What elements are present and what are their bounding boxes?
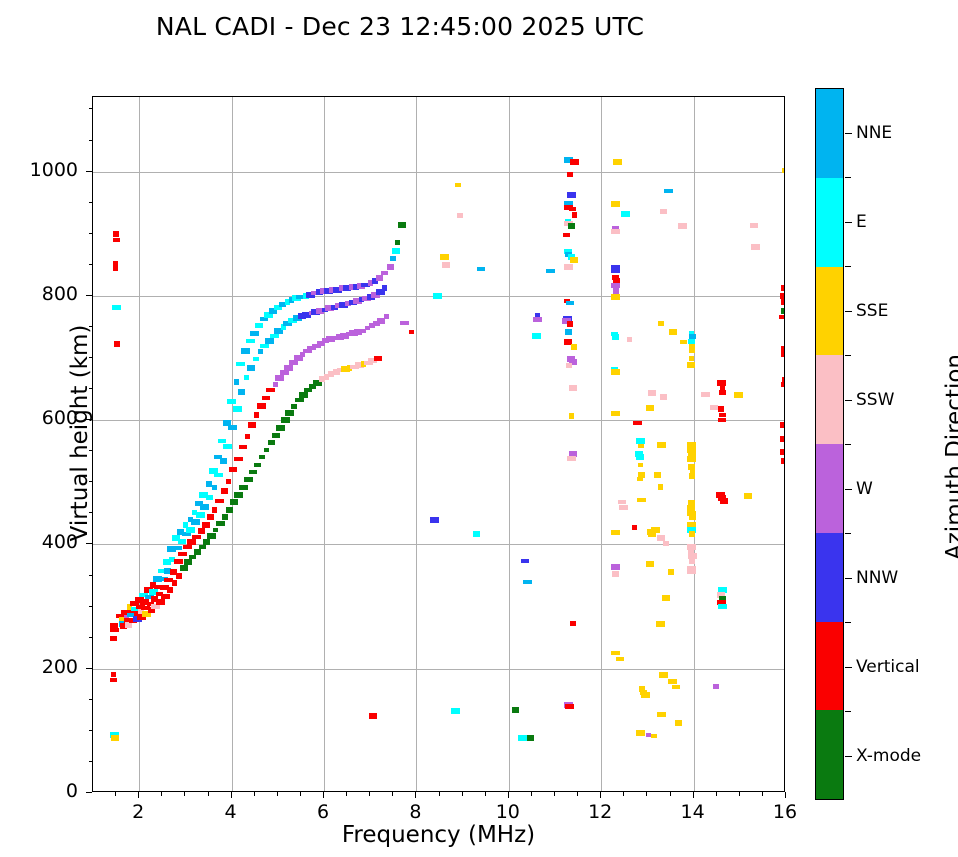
- x-tick-minor: [716, 792, 717, 796]
- echo-point: [672, 685, 680, 689]
- echo-point: [173, 546, 182, 550]
- x-tick-minor: [439, 792, 440, 796]
- echo-point: [257, 403, 266, 409]
- echo-point: [196, 512, 205, 518]
- echo-point: [156, 599, 165, 605]
- echo-point: [660, 209, 667, 214]
- y-tick-minor: [89, 699, 93, 700]
- echo-point: [611, 269, 620, 273]
- echo-point: [567, 192, 576, 198]
- echo-point: [656, 621, 665, 627]
- echo-point: [518, 735, 527, 741]
- echo-point: [285, 410, 294, 416]
- echo-point: [571, 344, 577, 350]
- echo-point: [246, 339, 255, 343]
- x-tick-major: [323, 792, 324, 798]
- colorbar-tick: [845, 311, 852, 312]
- echo-point: [781, 285, 784, 291]
- echo-point: [451, 708, 460, 714]
- echo-point: [184, 559, 192, 565]
- echo-point: [523, 580, 532, 584]
- echo-point: [659, 672, 668, 678]
- echo-point: [680, 340, 687, 344]
- echo-point: [750, 223, 758, 228]
- echo-point: [689, 516, 696, 520]
- echo-point: [613, 288, 619, 294]
- echo-point: [636, 454, 644, 460]
- echo-point: [646, 733, 651, 737]
- echo-point: [382, 285, 387, 291]
- colorbar-label-sse: SSE: [856, 301, 888, 321]
- echo-point: [521, 559, 529, 563]
- echo-point: [611, 229, 620, 234]
- echo-point: [646, 561, 654, 567]
- echo-point: [186, 527, 195, 533]
- x-tick-label: 14: [663, 801, 723, 823]
- x-tick-major: [231, 792, 232, 798]
- echo-point: [167, 587, 173, 593]
- colorbar-tick: [845, 578, 852, 579]
- echo-point: [565, 329, 572, 335]
- echo-point: [260, 344, 269, 348]
- echo-point: [260, 317, 268, 321]
- echo-point: [172, 580, 177, 586]
- echo-point: [233, 406, 242, 412]
- y-tick-major: [86, 171, 92, 172]
- echo-point: [384, 314, 389, 319]
- echo-point: [215, 499, 224, 503]
- echo-point: [718, 418, 726, 422]
- x-tick-major: [415, 792, 416, 798]
- echo-point: [299, 392, 308, 398]
- echo-point: [259, 455, 265, 459]
- y-tick-label: 0: [14, 780, 78, 802]
- colorbar-segment-w: [816, 444, 843, 533]
- colorbar-tick: [845, 222, 852, 223]
- echo-point: [611, 201, 620, 207]
- echo-point: [611, 369, 620, 375]
- echo-point: [687, 570, 696, 574]
- echo-point: [779, 315, 784, 319]
- echo-point: [216, 521, 225, 526]
- y-tick-label: 1000: [14, 159, 78, 181]
- echo-point: [455, 183, 461, 187]
- colorbar: [815, 88, 844, 800]
- echo-point: [718, 406, 724, 412]
- echo-point: [633, 421, 642, 425]
- echo-point: [228, 425, 237, 430]
- y-tick-minor: [89, 108, 93, 109]
- echo-point: [637, 498, 646, 502]
- echo-point: [720, 498, 728, 504]
- echo-point: [234, 492, 243, 498]
- colorbar-segment-nnw: [816, 533, 843, 622]
- echo-point: [110, 636, 117, 641]
- x-tick-minor: [670, 792, 671, 796]
- echo-point: [176, 573, 182, 579]
- echo-point: [701, 392, 710, 397]
- echo-point: [151, 604, 160, 609]
- echo-point: [473, 531, 480, 537]
- x-tick-label: 16: [755, 801, 815, 823]
- echo-point: [719, 390, 726, 395]
- echo-point: [678, 223, 687, 229]
- echo-point: [270, 334, 279, 338]
- colorbar-label-x-mode: X-mode: [856, 746, 921, 766]
- echo-point: [641, 692, 650, 698]
- echo-point: [112, 305, 121, 310]
- echo-point: [687, 362, 695, 368]
- colorbar-boundary-tick: [845, 177, 851, 178]
- echo-point: [244, 477, 253, 482]
- echo-point: [234, 457, 243, 461]
- echo-point: [713, 684, 719, 689]
- echo-point: [198, 528, 205, 534]
- echo-point: [248, 422, 256, 428]
- echo-point: [654, 472, 661, 478]
- echo-point: [719, 413, 726, 417]
- colorbar-segment-e: [816, 178, 843, 267]
- echo-point: [125, 622, 132, 628]
- echo-point: [202, 522, 210, 528]
- echo-point: [689, 473, 695, 479]
- echo-point: [245, 434, 250, 439]
- echo-point: [395, 240, 400, 245]
- echo-point: [638, 444, 644, 448]
- echo-point: [199, 545, 206, 549]
- colorbar-segment-ssw: [816, 355, 843, 444]
- echo-point: [113, 231, 119, 237]
- y-tick-major: [86, 668, 92, 669]
- echo-point: [400, 321, 409, 325]
- echo-point: [781, 308, 784, 314]
- echo-point: [780, 293, 784, 299]
- echo-point: [398, 222, 406, 228]
- echo-point: [226, 479, 231, 484]
- echo-point: [744, 493, 752, 499]
- echo-point: [230, 499, 238, 505]
- echo-point: [569, 385, 577, 391]
- echo-point: [110, 623, 118, 628]
- echo-point: [212, 507, 217, 513]
- x-tick-minor: [646, 792, 647, 796]
- echo-point: [295, 398, 304, 402]
- echo-point: [566, 363, 572, 368]
- echo-point: [275, 375, 284, 381]
- echo-point: [183, 545, 192, 549]
- colorbar-label-e: E: [856, 212, 867, 232]
- echo-point: [710, 405, 718, 410]
- echo-point: [239, 445, 247, 449]
- x-tick-label: 8: [385, 801, 445, 823]
- echo-point: [369, 713, 377, 719]
- echo-point: [253, 357, 259, 361]
- echo-point: [658, 321, 664, 326]
- echo-point: [111, 735, 119, 741]
- colorbar-tick: [845, 489, 852, 490]
- echo-point: [611, 564, 620, 570]
- echo-point: [178, 539, 186, 544]
- echo-point: [563, 233, 570, 237]
- x-tick-major: [138, 792, 139, 798]
- echo-point: [689, 559, 695, 564]
- echo-point: [182, 532, 191, 536]
- echo-point: [442, 262, 450, 268]
- x-tick-minor: [577, 792, 578, 796]
- echo-point: [569, 413, 574, 419]
- echo-point: [387, 264, 394, 270]
- echo-point: [689, 531, 695, 537]
- colorbar-segment-vertical: [816, 622, 843, 711]
- echo-point: [207, 514, 214, 520]
- y-axis-title: Virtual height (km): [67, 233, 93, 633]
- echo-point: [689, 356, 694, 361]
- echo-point: [781, 458, 784, 464]
- echo-point: [284, 365, 293, 371]
- echo-point: [220, 458, 227, 464]
- echo-point: [613, 159, 622, 165]
- echo-point: [619, 505, 628, 510]
- echo-point: [280, 370, 289, 375]
- echo-point: [618, 500, 626, 504]
- echo-point: [781, 351, 784, 357]
- echo-point: [781, 299, 784, 305]
- x-tick-label: 6: [293, 801, 353, 823]
- echo-point: [161, 594, 170, 599]
- colorbar-boundary-tick: [845, 444, 851, 445]
- x-tick-minor: [739, 792, 740, 796]
- echo-point: [657, 535, 665, 541]
- echo-point: [564, 264, 573, 270]
- x-axis-title: Frequency (MHz): [92, 822, 785, 848]
- echo-point: [234, 379, 239, 385]
- echo-point: [114, 341, 120, 347]
- echo-point: [636, 730, 645, 736]
- page-title: NAL CADI - Dec 23 12:45:00 2025 UTC: [0, 12, 800, 41]
- echo-point: [239, 485, 248, 490]
- echo-point: [637, 477, 643, 481]
- echo-point: [430, 517, 439, 523]
- echo-point: [611, 294, 620, 300]
- echo-point: [113, 238, 120, 242]
- echo-point: [646, 405, 654, 411]
- colorbar-boundary-tick: [845, 355, 851, 356]
- colorbar-label-w: W: [856, 479, 873, 499]
- echo-point: [567, 321, 573, 327]
- echo-point: [569, 207, 576, 211]
- echo-point: [272, 433, 280, 438]
- colorbar-boundary-tick: [845, 533, 851, 534]
- x-tick-major: [693, 792, 694, 798]
- echo-point: [570, 257, 578, 263]
- y-tick-minor: [89, 637, 93, 638]
- x-tick-minor: [208, 792, 209, 796]
- echo-point: [111, 672, 116, 677]
- echo-point: [187, 539, 196, 545]
- echo-point: [110, 628, 119, 632]
- echo-point: [191, 519, 200, 525]
- echo-point: [212, 485, 217, 490]
- echo-point: [194, 549, 201, 555]
- y-tick-minor: [89, 730, 93, 731]
- echo-point: [572, 212, 577, 218]
- echo-point: [222, 514, 228, 520]
- colorbar-tick: [845, 400, 852, 401]
- echo-point: [268, 440, 275, 445]
- echo-point: [657, 442, 666, 448]
- colorbar-tick: [845, 133, 852, 134]
- echo-point: [226, 507, 233, 513]
- colorbar-segment-x-mode: [816, 710, 843, 799]
- echo-point: [180, 565, 188, 571]
- echo-point: [223, 444, 232, 449]
- echo-point: [174, 559, 183, 564]
- x-tick-label: 4: [201, 801, 261, 823]
- colorbar-label-nnw: NNW: [856, 568, 898, 588]
- colorbar-label-nne: NNE: [856, 123, 892, 143]
- scatter-points-layer: [93, 97, 784, 791]
- echo-point: [611, 530, 620, 535]
- echo-point: [651, 734, 657, 738]
- echo-point: [781, 382, 784, 387]
- echo-point: [189, 555, 196, 559]
- x-tick-minor: [554, 792, 555, 796]
- echo-point: [780, 449, 784, 455]
- echo-point: [376, 275, 383, 281]
- x-tick-label: 10: [478, 801, 538, 823]
- colorbar-boundary-tick: [845, 266, 851, 267]
- echo-point: [657, 712, 666, 717]
- echo-point: [206, 495, 213, 500]
- y-tick-major: [86, 792, 92, 793]
- echo-point: [611, 411, 620, 416]
- colorbar-label-ssw: SSW: [856, 390, 894, 410]
- echo-point: [254, 463, 261, 467]
- x-tick-minor: [531, 792, 532, 796]
- echo-point: [110, 678, 117, 682]
- echo-point: [390, 256, 396, 261]
- echo-point: [409, 330, 414, 334]
- colorbar-segment-nne: [816, 89, 843, 178]
- echo-point: [229, 467, 237, 472]
- echo-point: [281, 417, 290, 423]
- echo-point: [570, 621, 576, 626]
- colorbar-boundary-tick: [845, 711, 851, 712]
- echo-point: [621, 211, 630, 217]
- echo-point: [113, 267, 118, 271]
- echo-point: [688, 553, 697, 559]
- y-tick-minor: [89, 140, 93, 141]
- colorbar-title: Azimuth Direction: [942, 247, 958, 667]
- ionogram-plot-area: [92, 96, 785, 792]
- echo-point: [214, 473, 223, 477]
- echo-point: [477, 267, 485, 271]
- echo-point: [546, 269, 555, 273]
- echo-point: [249, 470, 257, 474]
- echo-point: [258, 349, 263, 354]
- echo-point: [247, 365, 255, 371]
- echo-point: [663, 541, 669, 546]
- x-tick-minor: [254, 792, 255, 796]
- echo-point: [658, 484, 663, 490]
- x-tick-minor: [277, 792, 278, 796]
- x-tick-minor: [623, 792, 624, 796]
- echo-point: [289, 360, 298, 365]
- echo-point: [255, 323, 263, 328]
- echo-point: [638, 463, 643, 467]
- echo-point: [244, 375, 249, 380]
- echo-point: [780, 422, 784, 428]
- echo-point: [627, 337, 632, 342]
- echo-point: [273, 382, 278, 387]
- echo-point: [612, 571, 619, 577]
- echo-point: [616, 657, 624, 661]
- x-tick-label: 12: [570, 801, 630, 823]
- echo-point: [207, 533, 216, 539]
- echo-point: [687, 511, 696, 516]
- echo-point: [567, 172, 573, 177]
- x-tick-minor: [346, 792, 347, 796]
- echo-point: [611, 651, 620, 655]
- echo-point: [751, 244, 760, 250]
- echo-point: [227, 399, 236, 404]
- echo-point: [440, 254, 449, 260]
- echo-point: [264, 448, 269, 452]
- echo-point: [238, 389, 245, 395]
- echo-point: [568, 223, 575, 229]
- echo-point: [262, 396, 270, 400]
- echo-point: [718, 604, 727, 609]
- colorbar-label-vertical: Vertical: [856, 657, 920, 677]
- echo-point: [651, 527, 660, 533]
- echo-point: [291, 404, 297, 409]
- echo-point: [250, 331, 259, 336]
- x-tick-major: [600, 792, 601, 798]
- x-tick-minor: [762, 792, 763, 796]
- colorbar-tick: [845, 756, 852, 757]
- echo-point: [566, 301, 574, 305]
- echo-point: [178, 552, 187, 556]
- echo-point: [669, 329, 677, 335]
- echo-point: [266, 388, 275, 392]
- echo-point: [668, 679, 677, 684]
- x-tick-minor: [161, 792, 162, 796]
- x-tick-major: [508, 792, 509, 798]
- echo-point: [664, 189, 673, 193]
- echo-point: [662, 595, 670, 601]
- echo-point: [213, 528, 218, 532]
- x-tick-minor: [369, 792, 370, 796]
- echo-point: [392, 248, 400, 254]
- echo-point: [675, 720, 682, 726]
- echo-point: [512, 707, 519, 713]
- echo-point: [276, 425, 285, 431]
- echo-point: [192, 535, 201, 539]
- echo-point: [433, 293, 442, 299]
- colorbar-tick: [845, 667, 852, 668]
- echo-point: [668, 569, 674, 575]
- echo-point: [648, 390, 656, 396]
- echo-point: [565, 704, 574, 709]
- colorbar-boundary-tick: [845, 622, 851, 623]
- y-tick-label: 200: [14, 656, 78, 678]
- x-tick-minor: [184, 792, 185, 796]
- x-tick-minor: [462, 792, 463, 796]
- echo-point: [203, 539, 210, 545]
- echo-point: [570, 159, 579, 165]
- echo-point: [734, 392, 743, 398]
- x-tick-minor: [115, 792, 116, 796]
